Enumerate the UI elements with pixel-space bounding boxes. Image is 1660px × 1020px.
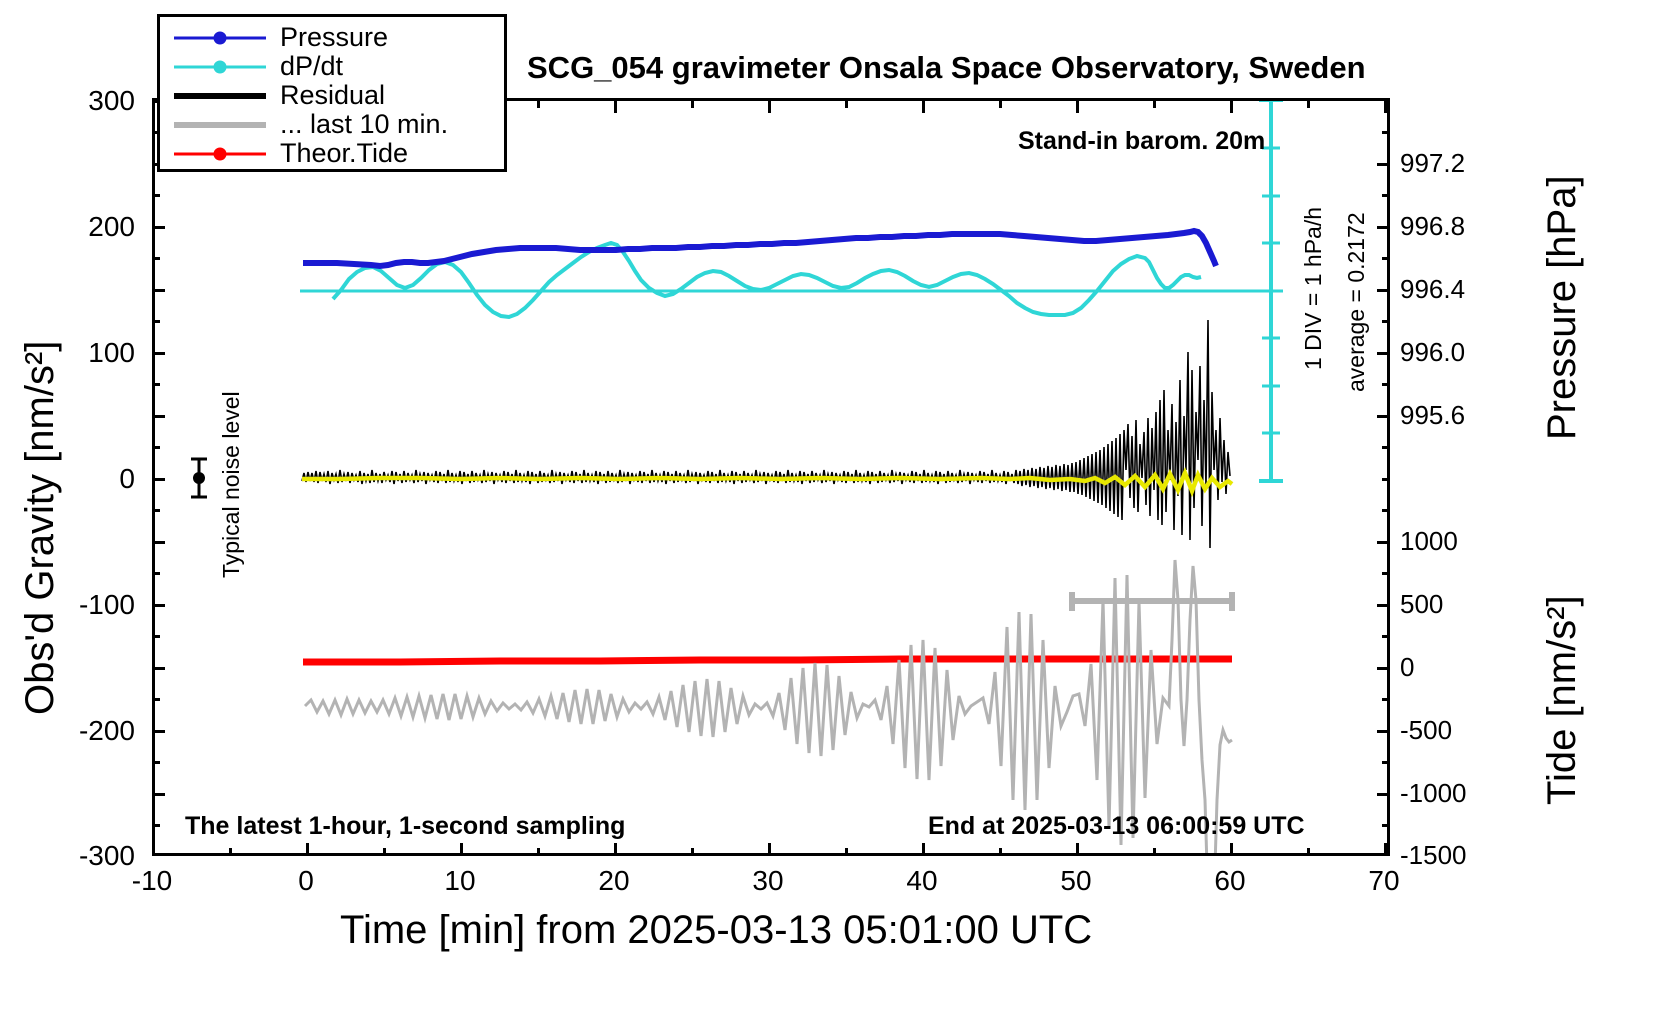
xtick-label-30: 30 xyxy=(718,865,818,897)
legend-swatch-last10 xyxy=(174,116,266,134)
xtick-label-neg10: -10 xyxy=(102,865,202,897)
right-pressure-axis-title: Pressure [hPa] xyxy=(1540,175,1585,440)
xtick-label-40: 40 xyxy=(872,865,972,897)
ytick-label-300: 300 xyxy=(30,85,135,117)
right-tide-axis-title: Tide [nm/s²] xyxy=(1540,595,1585,805)
sampling-annotation: The latest 1-hour, 1-second sampling xyxy=(185,812,625,841)
legend-label-theor-tide: Theor.Tide xyxy=(280,140,408,167)
xtick-label-20: 20 xyxy=(564,865,664,897)
xtick-label-50: 50 xyxy=(1026,865,1126,897)
right-tide-label-neg1500: -1500 xyxy=(1400,840,1467,871)
legend-swatch-theor-tide xyxy=(174,145,266,163)
y-axis-title: Obs'd Gravity [nm/s²] xyxy=(18,341,63,715)
right-tide-label-neg1000: -1000 xyxy=(1400,778,1467,809)
legend-label-last10: ... last 10 min. xyxy=(280,111,448,138)
legend-swatch-residual xyxy=(174,87,266,105)
right-tide-label-neg500: -500 xyxy=(1400,715,1452,746)
ytick-label-200: 200 xyxy=(30,211,135,243)
ytick-label-neg200: -200 xyxy=(30,715,135,747)
right-pressure-label-9960: 996.0 xyxy=(1400,337,1465,368)
standin-barometer-annotation: Stand-in barom. 20m xyxy=(1018,127,1265,156)
scale-division-annotation: 1 DIV = 1 hPa/h xyxy=(1300,207,1327,370)
legend-item-pressure[interactable]: Pressure xyxy=(174,23,504,52)
right-tide-label-0: 0 xyxy=(1400,652,1414,683)
legend-item-theor-tide[interactable]: Theor.Tide xyxy=(174,139,504,168)
right-pressure-label-9968: 996.8 xyxy=(1400,211,1465,242)
legend-swatch-dpdt xyxy=(174,58,266,76)
legend-label-pressure: Pressure xyxy=(280,24,388,51)
xtick-label-10: 10 xyxy=(410,865,510,897)
average-annotation: average = 0.2172 xyxy=(1343,212,1370,392)
chart-canvas: SCG_054 gravimeter Onsala Space Observat… xyxy=(0,0,1660,1020)
plot-area xyxy=(152,98,1390,856)
xtick-label-60: 60 xyxy=(1180,865,1280,897)
right-pressure-label-9956: 995.6 xyxy=(1400,400,1465,431)
legend-swatch-pressure xyxy=(174,29,266,47)
xtick-label-0: 0 xyxy=(256,865,356,897)
legend-item-residual[interactable]: Residual xyxy=(174,81,504,110)
legend-item-last10[interactable]: ... last 10 min. xyxy=(174,110,504,139)
legend-label-dpdt: dP/dt xyxy=(280,53,343,80)
legend-label-residual: Residual xyxy=(280,82,385,109)
legend-item-dpdt[interactable]: dP/dt xyxy=(174,52,504,81)
right-tide-label-500: 500 xyxy=(1400,589,1443,620)
end-time-annotation: End at 2025-03-13 06:00:59 UTC xyxy=(928,812,1305,841)
right-pressure-label-9964: 996.4 xyxy=(1400,274,1465,305)
x-axis-title: Time [min] from 2025-03-13 05:01:00 UTC xyxy=(340,908,1092,953)
legend: Pressure dP/dt Residual ... last 10 min. xyxy=(157,14,507,172)
right-pressure-label-9972: 997.2 xyxy=(1400,148,1465,179)
typical-noise-level-annotation: Typical noise level xyxy=(218,391,245,578)
right-tide-label-1000: 1000 xyxy=(1400,526,1458,557)
chart-title: SCG_054 gravimeter Onsala Space Observat… xyxy=(527,50,1366,86)
